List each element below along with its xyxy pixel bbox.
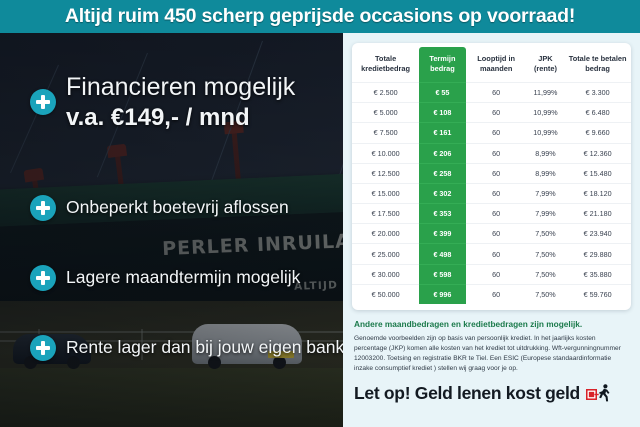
cell-total-payable: € 9.660 <box>564 123 631 143</box>
plus-circle-icon <box>30 265 56 291</box>
table-row: € 7.500€ 1616010,99%€ 9.660 <box>352 123 631 143</box>
rates-table-head: Totale kredietbedrag Termijn bedrag Loop… <box>352 47 631 82</box>
cell-total-credit: € 12.500 <box>352 163 419 183</box>
cell-total-credit: € 30.000 <box>352 264 419 284</box>
benefit-item-financing: Financieren mogelijk v.a. €149,- / mnd <box>30 73 295 132</box>
rates-card: Totale kredietbedrag Termijn bedrag Loop… <box>352 43 631 310</box>
note-title: Andere maandbedragen en kredietbedragen … <box>354 319 629 330</box>
cell-total-credit: € 5.000 <box>352 103 419 123</box>
plus-circle-icon <box>30 195 56 221</box>
benefits-list: Financieren mogelijk v.a. €149,- / mnd O… <box>0 33 348 427</box>
benefit-item-lower-installment: Lagere maandtermijn mogelijk <box>30 265 300 291</box>
cell-apr: 7,50% <box>527 244 565 264</box>
cell-apr: 7,99% <box>527 204 565 224</box>
table-row: € 5.000€ 1086010,99%€ 6.480 <box>352 103 631 123</box>
running-man-exit-icon <box>586 383 612 403</box>
cell-total-payable: € 12.360 <box>564 143 631 163</box>
finance-panel: Totale kredietbedrag Termijn bedrag Loop… <box>343 33 640 427</box>
cell-apr: 8,99% <box>527 163 565 183</box>
cell-total-credit: € 15.000 <box>352 183 419 203</box>
plus-circle-icon <box>30 335 56 361</box>
cell-total-credit: € 17.500 <box>352 204 419 224</box>
note-body: Genoemde voorbeelden zijn op basis van p… <box>354 334 629 375</box>
cell-duration: 60 <box>466 224 527 244</box>
benefit-text: Onbeperkt boetevrij aflossen <box>66 198 289 218</box>
cell-duration: 60 <box>466 204 527 224</box>
table-row: € 2.500€ 556011,99%€ 3.300 <box>352 82 631 102</box>
benefit-item-lower-interest: Rente lager dan bij jouw eigen bank <box>30 335 344 361</box>
cell-duration: 60 <box>466 123 527 143</box>
cell-apr: 10,99% <box>527 123 565 143</box>
cell-installment: € 996 <box>419 284 466 304</box>
cell-installment: € 353 <box>419 204 466 224</box>
cell-installment: € 108 <box>419 103 466 123</box>
table-row: € 25.000€ 498607,50%€ 29.880 <box>352 244 631 264</box>
table-header-row: Totale kredietbedrag Termijn bedrag Loop… <box>352 47 631 82</box>
benefit-text: Rente lager dan bij jouw eigen bank <box>66 338 344 358</box>
cell-installment: € 302 <box>419 183 466 203</box>
col-header-total-payable: Totale te betalen bedrag <box>564 47 631 82</box>
cell-duration: 60 <box>466 143 527 163</box>
rates-table: Totale kredietbedrag Termijn bedrag Loop… <box>352 47 631 304</box>
cell-duration: 60 <box>466 284 527 304</box>
benefit-item-early-repayment: Onbeperkt boetevrij aflossen <box>30 195 289 221</box>
cell-installment: € 258 <box>419 163 466 183</box>
benefit-text: Financieren mogelijk v.a. €149,- / mnd <box>66 73 295 132</box>
cell-apr: 8,99% <box>527 143 565 163</box>
loan-warning-text: Let op! Geld lenen kost geld <box>354 383 580 404</box>
cell-apr: 7,50% <box>527 224 565 244</box>
cell-duration: 60 <box>466 264 527 284</box>
cell-total-credit: € 20.000 <box>352 224 419 244</box>
col-header-installment: Termijn bedrag <box>419 47 466 82</box>
table-row: € 17.500€ 353607,99%€ 21.180 <box>352 204 631 224</box>
cell-installment: € 399 <box>419 224 466 244</box>
rates-table-body: € 2.500€ 556011,99%€ 3.300€ 5.000€ 10860… <box>352 82 631 304</box>
cell-installment: € 161 <box>419 123 466 143</box>
cell-duration: 60 <box>466 82 527 102</box>
cell-total-payable: € 3.300 <box>564 82 631 102</box>
promo-banner: Altijd ruim 450 scherp geprijsde occasio… <box>0 0 640 427</box>
cell-total-payable: € 15.480 <box>564 163 631 183</box>
cell-total-payable: € 6.480 <box>564 103 631 123</box>
cell-total-credit: € 50.000 <box>352 284 419 304</box>
cell-total-payable: € 23.940 <box>564 224 631 244</box>
cell-duration: 60 <box>466 103 527 123</box>
cell-total-credit: € 7.500 <box>352 123 419 143</box>
benefit-line-2: v.a. €149,- / mnd <box>66 105 295 132</box>
loan-warning: Let op! Geld lenen kost geld <box>354 383 629 404</box>
cell-apr: 7,50% <box>527 284 565 304</box>
col-header-duration: Looptijd in maanden <box>466 47 527 82</box>
table-row: € 20.000€ 399607,50%€ 23.940 <box>352 224 631 244</box>
cell-duration: 60 <box>466 244 527 264</box>
cell-duration: 60 <box>466 183 527 203</box>
benefit-line-1: Financieren mogelijk <box>66 73 295 101</box>
cell-total-credit: € 25.000 <box>352 244 419 264</box>
cell-apr: 10,99% <box>527 103 565 123</box>
cell-installment: € 206 <box>419 143 466 163</box>
cell-total-credit: € 10.000 <box>352 143 419 163</box>
cell-duration: 60 <box>466 163 527 183</box>
table-row: € 50.000€ 996607,50%€ 59.760 <box>352 284 631 304</box>
table-row: € 15.000€ 302607,99%€ 18.120 <box>352 183 631 203</box>
col-header-total-credit: Totale kredietbedrag <box>352 47 419 82</box>
cell-total-payable: € 21.180 <box>564 204 631 224</box>
benefit-text: Lagere maandtermijn mogelijk <box>66 268 300 288</box>
table-row: € 30.000€ 598607,50%€ 35.880 <box>352 264 631 284</box>
table-row: € 10.000€ 206608,99%€ 12.360 <box>352 143 631 163</box>
cell-installment: € 598 <box>419 264 466 284</box>
cell-total-payable: € 18.120 <box>564 183 631 203</box>
cell-apr: 11,99% <box>527 82 565 102</box>
header-bar: Altijd ruim 450 scherp geprijsde occasio… <box>0 0 640 33</box>
header-headline: Altijd ruim 450 scherp geprijsde occasio… <box>65 5 575 28</box>
cell-apr: 7,50% <box>527 264 565 284</box>
cell-total-payable: € 35.880 <box>564 264 631 284</box>
col-header-apr: JPK (rente) <box>527 47 565 82</box>
plus-circle-icon <box>30 89 56 115</box>
table-row: € 12.500€ 258608,99%€ 15.480 <box>352 163 631 183</box>
cell-total-payable: € 29.880 <box>564 244 631 264</box>
cell-installment: € 498 <box>419 244 466 264</box>
cell-total-credit: € 2.500 <box>352 82 419 102</box>
cell-apr: 7,99% <box>527 183 565 203</box>
cell-installment: € 55 <box>419 82 466 102</box>
cell-total-payable: € 59.760 <box>564 284 631 304</box>
